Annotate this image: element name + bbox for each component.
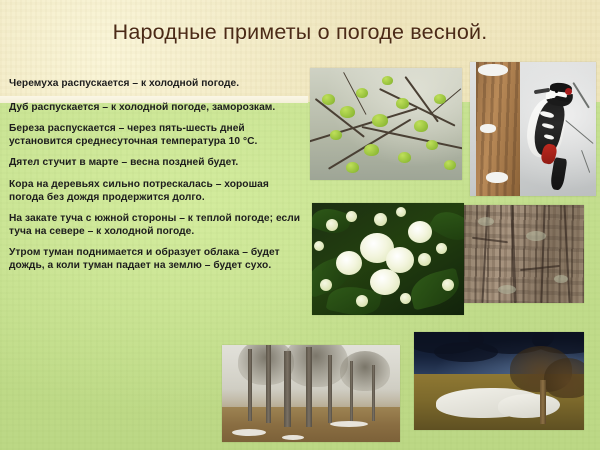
leaf-bud bbox=[396, 98, 409, 109]
bark-lichen bbox=[554, 275, 568, 283]
leaf-bud bbox=[444, 160, 456, 170]
bark-lichen bbox=[478, 217, 494, 226]
tree-crown bbox=[284, 345, 348, 387]
snow-patch bbox=[478, 64, 508, 76]
photo-misty-forest bbox=[222, 345, 400, 442]
photo-budding-branches bbox=[310, 68, 462, 180]
blossom-cluster bbox=[408, 221, 432, 243]
leaf-bud bbox=[330, 130, 342, 140]
snow-patch bbox=[486, 172, 508, 183]
omen-item-kora: Кора на деревьях сильно потрескалась – х… bbox=[9, 179, 305, 204]
photo-tree-bark bbox=[464, 205, 584, 303]
bark-crack bbox=[472, 237, 508, 243]
leaf-bud bbox=[372, 114, 388, 127]
leaf-bud bbox=[414, 120, 428, 132]
bark-lichen bbox=[498, 285, 516, 294]
tree-trunk bbox=[306, 347, 312, 427]
omen-item-tucha: На закате туча с южной стороны – к тепло… bbox=[9, 213, 305, 238]
omen-item-dyatel: Дятел стучит в марте – весна поздней буд… bbox=[9, 157, 305, 170]
blossom-cluster bbox=[336, 251, 362, 275]
leaf-bud bbox=[398, 152, 411, 163]
tree-trunk bbox=[284, 351, 291, 427]
tree-trunk bbox=[266, 345, 271, 423]
photo-woodpecker bbox=[470, 62, 596, 196]
blossom-leaf bbox=[428, 205, 464, 248]
bark-lichen bbox=[526, 231, 546, 241]
fence-post bbox=[540, 380, 546, 424]
leaf-bud bbox=[340, 106, 355, 118]
blossom-bud bbox=[418, 253, 431, 266]
slide-canvas: Народные приметы о погоде весной. Черему… bbox=[0, 0, 600, 450]
bark-crack bbox=[520, 265, 560, 271]
tree-trunk bbox=[248, 349, 252, 421]
blossom-bud bbox=[442, 279, 454, 291]
blossom-bud bbox=[374, 213, 387, 226]
blossom-bud bbox=[346, 211, 357, 222]
storm-cloud bbox=[434, 342, 498, 362]
leaf-bud bbox=[346, 162, 359, 173]
tree-crown bbox=[340, 351, 390, 391]
dry-bush bbox=[544, 358, 584, 398]
leaf-bud bbox=[364, 144, 379, 156]
blossom-bud bbox=[320, 279, 332, 291]
photo-storm-clouds bbox=[414, 332, 584, 430]
snow-patch bbox=[330, 421, 368, 427]
leaf-bud bbox=[426, 140, 438, 150]
photo-bird-cherry-blossom bbox=[312, 203, 464, 315]
blossom-bud bbox=[436, 243, 447, 254]
blossom-bud bbox=[356, 295, 368, 307]
woodpecker-red-nape bbox=[565, 88, 572, 95]
snow-patch bbox=[232, 429, 266, 436]
tree-trunk bbox=[350, 361, 353, 421]
omen-item-cheremuha: Черемуха распускается – к холодной погод… bbox=[9, 78, 305, 91]
blossom-bud bbox=[326, 219, 338, 231]
blossom-cluster bbox=[370, 269, 400, 295]
bark-crack bbox=[540, 205, 545, 303]
leaf-bud bbox=[322, 94, 335, 105]
blossom-bud bbox=[400, 293, 411, 304]
page-title: Народные приметы о погоде весной. bbox=[0, 20, 600, 45]
omen-item-dub: Дуб распускается – к холодной погоде, за… bbox=[9, 102, 305, 115]
omen-item-bereza: Береза распускается – через пять-шесть д… bbox=[9, 123, 305, 148]
blossom-bud bbox=[396, 207, 406, 217]
omen-item-tuman: Утром туман поднимается и образует облак… bbox=[9, 247, 305, 272]
leaf-bud bbox=[382, 76, 393, 85]
woodpecker-eye bbox=[555, 90, 558, 93]
blossom-bud bbox=[314, 241, 324, 251]
omen-list: Черемуха распускается – к холодной погод… bbox=[9, 78, 305, 282]
leaf-bud bbox=[356, 88, 368, 98]
snow-patch bbox=[282, 435, 304, 440]
blossom-leaf bbox=[407, 267, 463, 310]
tree-trunk bbox=[328, 355, 332, 423]
bark-crack bbox=[563, 205, 570, 303]
leaf-bud bbox=[434, 94, 446, 104]
tree-trunk bbox=[372, 365, 375, 421]
snow-patch bbox=[480, 124, 496, 133]
